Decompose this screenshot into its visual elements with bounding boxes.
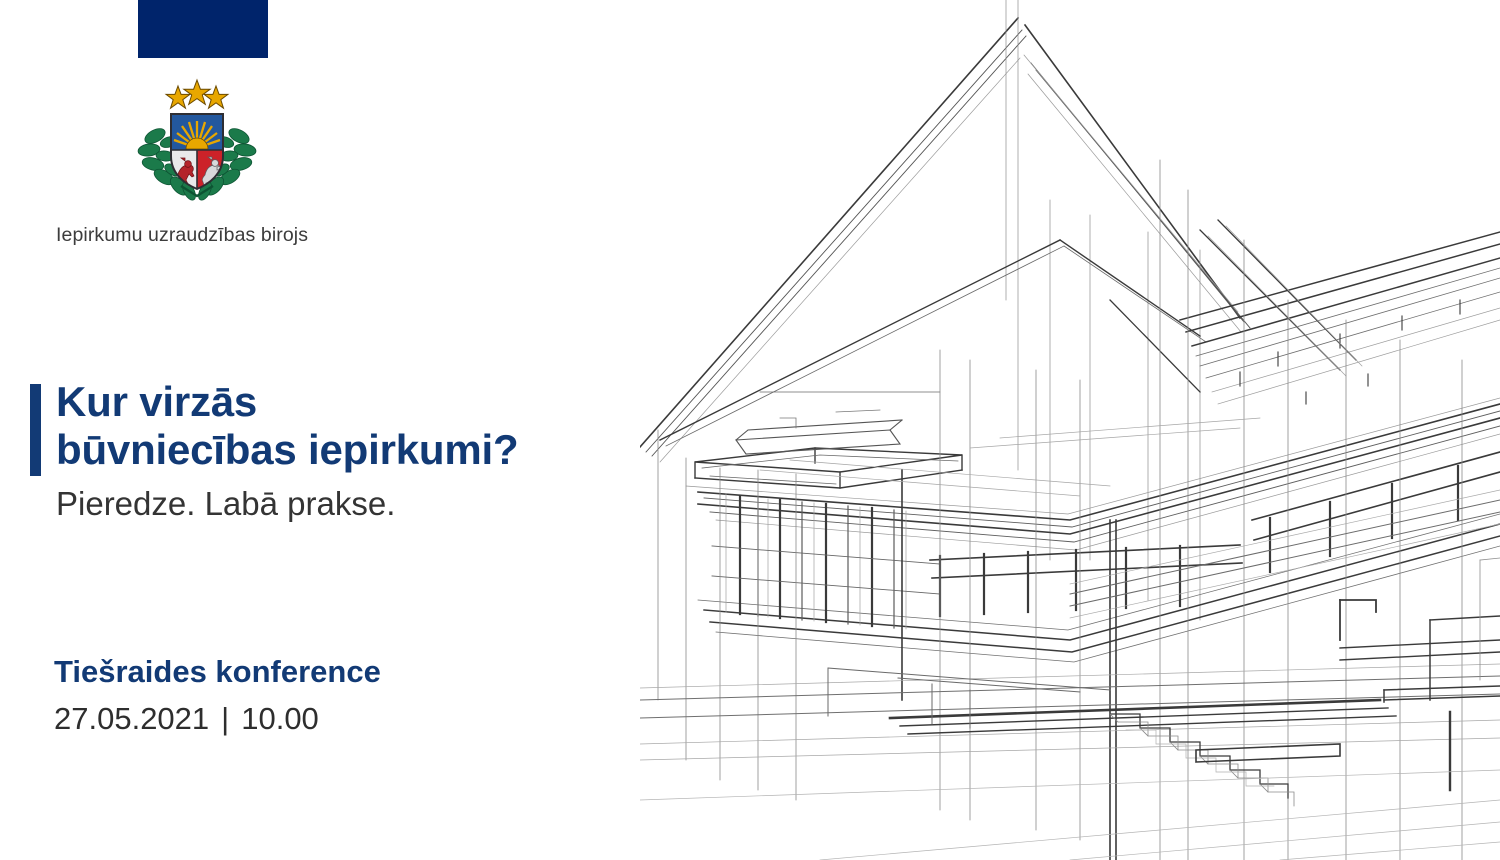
event-block: Tiešraides konference 27.05.2021|10.00 [54,652,614,738]
event-heading: Tiešraides konference [54,652,614,692]
poster-canvas: Iepirkumu uzraudzības birojs Kur virzās … [0,0,1500,860]
event-date: 27.05.2021 [54,701,209,736]
title-block: Kur virzās būvniecības iepirkumi? Piered… [30,378,670,474]
page-title-line-1: Kur virzās [56,378,670,426]
brand-banner [138,0,268,58]
organisation-name: Iepirkumu uzraudzības birojs [56,224,476,247]
page-subtitle: Pieredze. Labā prakse. [56,484,395,524]
latvian-coat-of-arms-emblem [133,78,261,206]
architectural-wireframe-artwork [640,0,1500,860]
title-accent-bar [30,384,41,476]
event-separator: | [209,701,241,736]
event-time: 10.00 [241,701,319,736]
page-title: Kur virzās būvniecības iepirkumi? [30,378,670,474]
page-title-line-2: būvniecības iepirkumi? [56,426,670,474]
event-datetime: 27.05.2021|10.00 [54,700,614,738]
